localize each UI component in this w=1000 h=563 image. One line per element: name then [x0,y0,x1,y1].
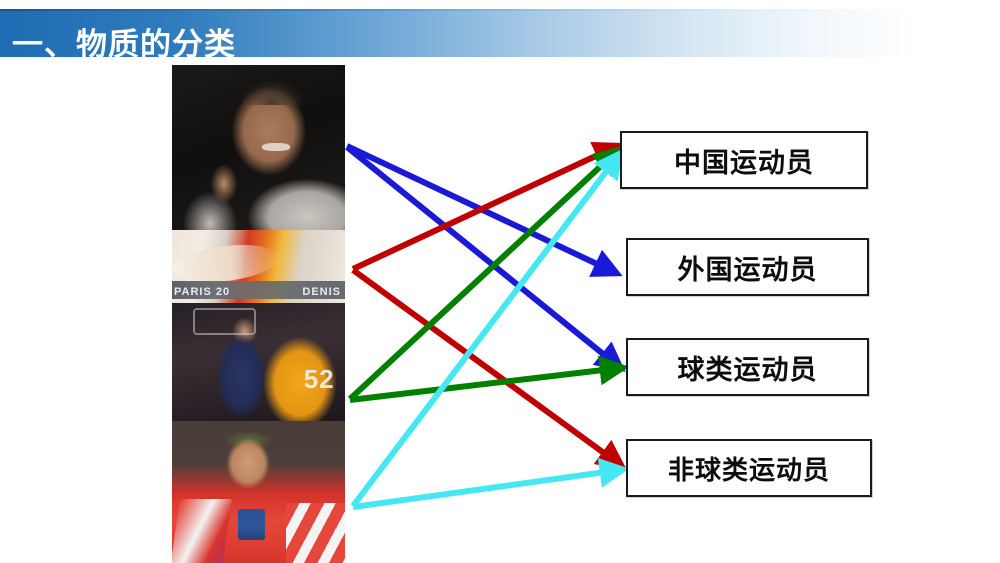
category-box-foreign-athlete[interactable]: 外国运动员 [626,238,869,296]
photo-detail-jacket-left [172,499,232,563]
photo-detail-smile [262,143,290,151]
category-box-chinese-athlete[interactable]: 中国运动员 [620,131,868,189]
arrow-photo1-to-foreign [347,146,614,272]
photo-detail-hair [243,82,302,105]
photo-athlete-3-caption: 篮球运动员照片（深蓝色球衣对抗黄色球衣） [172,303,192,304]
photo-athlete-4-caption: 戴桂冠的运动员照片（红白相间运动服，颁奖） [172,421,193,422]
arrow-photo3-to-chinese [350,152,616,399]
photo-athlete-1: 男子运动员照片（浅灰西装，深色背景，微笑举手） [172,65,345,230]
photo-detail-jacket-right [286,503,345,563]
arrow-photo4-to-chinese [353,156,618,506]
photo-athlete-1-caption: 男子运动员照片（浅灰西装，深色背景，微笑举手） [172,65,195,66]
arrow-photo1-to-ball [347,147,618,366]
photo-athlete-2: PARIS 20 DENIS 体操运动员照片（红黄色队服，鞍马） [172,230,345,303]
photo-overlay-jersey-number: 52 [304,364,335,395]
arrow-photo3-to-ball [350,368,620,400]
photo-athlete-2-caption: 体操运动员照片（红黄色队服，鞍马） [172,230,189,231]
arrow-photo2-to-chinese [353,147,615,269]
photo-athlete-4: 戴桂冠的运动员照片（红白相间运动服，颁奖） [172,421,345,563]
arrow-photo2-to-nonball [353,270,619,464]
photo-overlay-text-right: DENIS [302,286,341,298]
arrow-photo4-to-nonball [353,470,620,507]
photo-overlay-text-left: PARIS 20 [174,286,230,298]
category-label: 球类运动员 [678,348,818,387]
basketball-hoop-detail [193,308,256,336]
category-label: 外国运动员 [678,248,818,287]
page-title: 一、物质的分类 [12,22,236,68]
photo-detail-collar [238,509,266,540]
category-box-ball-sport-athlete[interactable]: 球类运动员 [626,338,869,396]
category-box-nonball-sport-athlete[interactable]: 非球类运动员 [626,439,872,497]
slide-canvas: 一、物质的分类 男子运动员照片（浅灰西装，深色背景，微笑举手） PARIS 20… [0,0,1000,563]
category-label: 中国运动员 [674,141,814,180]
category-label: 非球类运动员 [668,450,830,487]
photo-athlete-3: 52 篮球运动员照片（深蓝色球衣对抗黄色球衣） [172,303,345,421]
athlete-photo-stack: 男子运动员照片（浅灰西装，深色背景，微笑举手） PARIS 20 DENIS 体… [172,65,345,563]
header-banner: 一、物质的分类 [0,11,1000,57]
